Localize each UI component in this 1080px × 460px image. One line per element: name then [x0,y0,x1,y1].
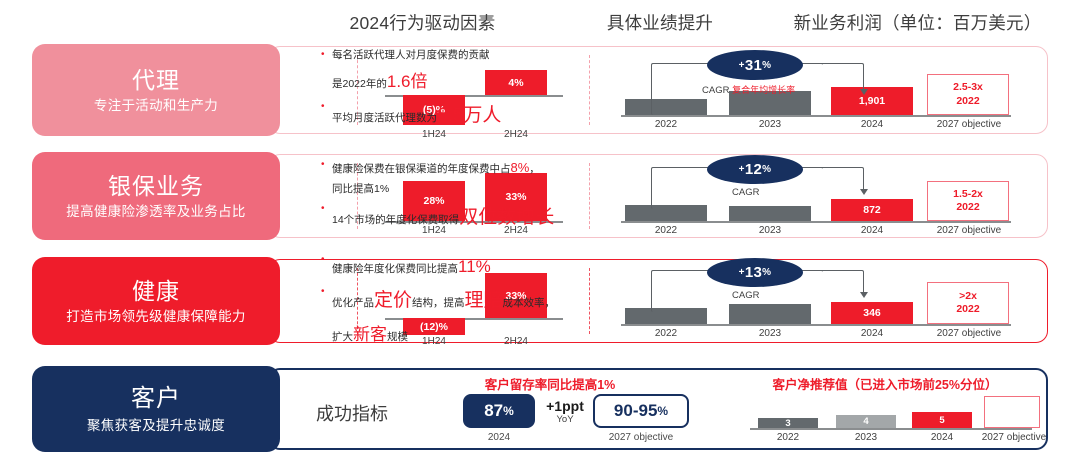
bullet-item: 14个市场的年度化保费取得双位数增长 [321,200,593,236]
tick-2022: 2022 [625,328,707,339]
cagr-value: 12 [745,161,762,178]
bullets-health: 健康险年度化保费同比提高11% 优化产品定价结构，提高理赔成本效率， 扩大新客规… [321,260,593,342]
row-bancassurance: 28% 33% 1H24 2H24 +12% CAGR 872 [32,152,1048,240]
tick-2023: 2023 [729,119,811,130]
chart-health-nbp: +13% CAGR 346 >2x 2022 2022 2023 2024 20… [589,260,1044,342]
tick-2022: 2022 [625,225,707,236]
bar-nbp-2024: 346 [831,302,913,324]
pill-subtitle: 打造市场领先级健康保障能力 [66,309,245,325]
pill-subtitle: 专注于活动和生产力 [94,98,218,114]
objective-line-2: 2022 [956,95,979,108]
cagr-caption-health: CAGR [732,290,759,301]
row-customer: 成功指标 客户留存率同比提高1% 87% 2024 +1ppt YoY 90-9… [32,366,1048,452]
pill-title: 健康 [132,278,180,304]
bar-nps-2024: 5 [912,412,972,428]
pill-title: 银保业务 [108,173,204,199]
objective-line-1: >2x [959,290,977,303]
pill-title: 代理 [132,67,180,93]
axis-line [750,428,1032,430]
panel-health: (12)% 33% 1H24 2H24 +13% CAGR 346 [268,259,1048,343]
row-health: (12)% 33% 1H24 2H24 +13% CAGR 346 [32,257,1048,345]
slide-canvas: 2024行为驱动因素 具体业绩提升 新业务利润（单位：百万美元） (5)% 4%… [0,0,1080,460]
bar-nbp-2024: 872 [831,199,913,221]
pill-subtitle: 提高健康险渗透率及业务占比 [66,204,245,220]
axis-line [621,324,1011,326]
column-header-performance: 具体业绩提升 [560,10,760,35]
chart-banca-nbp: +12% CAGR 872 1.5-2x 2022 2022 2023 2024… [589,155,1044,237]
pill-title: 客户 [131,385,181,413]
bar-nps-objective: 10 [984,396,1040,428]
tick-2027-objective: 2027 objective [968,432,1060,443]
retention-target-label: 2027 objective [585,432,697,443]
tick-2022: 2022 [758,432,818,443]
bullets-bancassurance: 健康险保费在银保渠道的年度保费中占8%， 同比提高1% 14个市场的年度化保费取… [321,155,593,237]
cagr-arrow-icon [860,89,868,95]
tick-2022: 2022 [625,119,707,130]
cagr-pct: % [762,60,771,71]
retention-delta-main: +1ppt [538,399,592,414]
pill-customer[interactable]: 客户 聚焦获客及提升忠诚度 [32,366,280,452]
cagr-caption-banca: CAGR [732,187,759,198]
retention-target-box: 90-95% [593,394,689,428]
objective-box-health: >2x 2022 [927,282,1009,324]
cagr-caption-en: CAGR [732,290,759,301]
cagr-arrow-icon [860,189,868,195]
column-header-behavior-drivers: 2024行为驱动因素 [285,10,560,35]
retention-caption: 客户留存率同比提高1% [410,374,690,393]
cagr-value: 13 [745,264,762,281]
column-headers: 2024行为驱动因素 具体业绩提升 新业务利润（单位：百万美元） [0,6,1080,38]
bullet-item: 健康险保费在银保渠道的年度保费中占8%， [321,156,593,181]
pill-bancassurance[interactable]: 银保业务 提高健康险渗透率及业务占比 [32,152,280,240]
cagr-value: 31 [745,57,762,74]
tick-2023: 2023 [729,328,811,339]
cagr-badge-health: +13% [707,258,803,287]
retention-current-label: 2024 [463,432,535,443]
tick-2027-objective: 2027 objective [919,328,1019,339]
panel-customer: 成功指标 客户留存率同比提高1% 87% 2024 +1ppt YoY 90-9… [268,368,1048,450]
bullet-continuation: 扩大新客规模 [321,319,593,351]
cagr-pct: % [762,164,771,175]
cagr-badge-agency: +31% [707,50,803,80]
cagr-caption-en: CAGR [702,85,729,96]
tick-2023: 2023 [836,432,896,443]
panel-bancassurance: 28% 33% 1H24 2H24 +12% CAGR 872 [268,154,1048,238]
tick-2024: 2024 [831,225,913,236]
retention-target-value: 90-95 [614,401,657,421]
bullet-item: 优化产品定价结构，提高理赔成本效率， [321,283,593,319]
retention-current-value: 87 [484,401,503,421]
cagr-caption-en: CAGR [732,187,759,198]
retention-delta-sub: YoY [538,414,592,425]
bullet-continuation: 是2022年的1.6倍 [321,66,593,98]
retention-delta: +1ppt YoY [538,399,592,425]
objective-box-agency: 2.5-3x 2022 [927,74,1009,115]
bullet-item: 平均月度活跃代理数为6.5万人 [321,98,593,134]
objective-line-1: 1.5-2x [953,188,983,201]
retention-current-pct: % [503,404,514,418]
bullet-item: 每名活跃代理人对月度保费的贡献 [321,46,593,66]
objective-box-banca: 1.5-2x 2022 [927,181,1009,221]
tick-2027-objective: 2027 objective [919,119,1019,130]
chart-agency-nbp: +31% CAGR 复合年均增长率 1,901 2.5-3x 2022 2022… [589,47,1044,133]
row-agency: (5)% 4% 1H24 2H24 +31% CAGR 复合年均增长率 [32,44,1048,136]
cagr-caption-agency: CAGR 复合年均增长率 [702,83,795,96]
bar-nps-2023: 4 [836,415,896,428]
tick-2024: 2024 [912,432,972,443]
axis-line [621,221,1011,223]
cagr-caption-cn: 复合年均增长率 [732,85,795,95]
pill-subtitle: 聚焦获客及提升忠诚度 [87,418,225,434]
metric-title: 成功指标 [316,400,388,426]
tick-2024: 2024 [831,119,913,130]
chart-nps: 3 4 5 10 2022 2023 2024 2027 objective [740,370,1040,448]
pill-health[interactable]: 健康 打造市场领先级健康保障能力 [32,257,280,345]
objective-line-2: 2022 [956,201,979,214]
cagr-arrow-icon [860,292,868,298]
pill-agency[interactable]: 代理 专注于活动和生产力 [32,44,280,136]
column-header-nbp: 新业务利润（单位：百万美元） [755,10,1080,35]
axis-line [621,115,1011,117]
objective-line-1: 2.5-3x [953,81,983,94]
tick-2027-objective: 2027 objective [919,225,1019,236]
tick-2023: 2023 [729,225,811,236]
objective-line-2: 2022 [956,303,979,316]
cagr-pct: % [762,267,771,278]
cagr-badge-banca: +12% [707,155,803,184]
panel-agency: (5)% 4% 1H24 2H24 +31% CAGR 复合年均增长率 [268,46,1048,134]
tick-2024: 2024 [831,328,913,339]
retention-current-box: 87% [463,394,535,428]
bullets-agency: 每名活跃代理人对月度保费的贡献 是2022年的1.6倍 平均月度活跃代理数为6.… [321,47,593,133]
bar-nps-2022: 3 [758,418,818,428]
bullet-item: 健康险年度化保费同比提高11% [321,251,593,283]
retention-target-pct: % [657,404,668,418]
bullet-continuation: 同比提高1% [321,180,593,200]
